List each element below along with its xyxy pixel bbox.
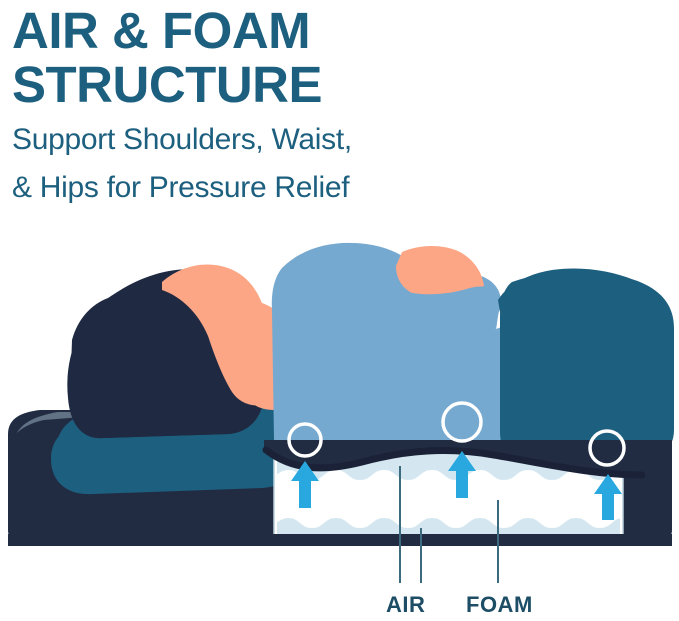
mattress-lower-strip [8,534,672,546]
infographic-page: AIR & FOAM STRUCTURE Support Shoulders, … [0,0,679,621]
callout-label-foam: FOAM [466,592,533,618]
callout-label-air: AIR [386,592,425,618]
air-foam-illustration [0,0,679,621]
